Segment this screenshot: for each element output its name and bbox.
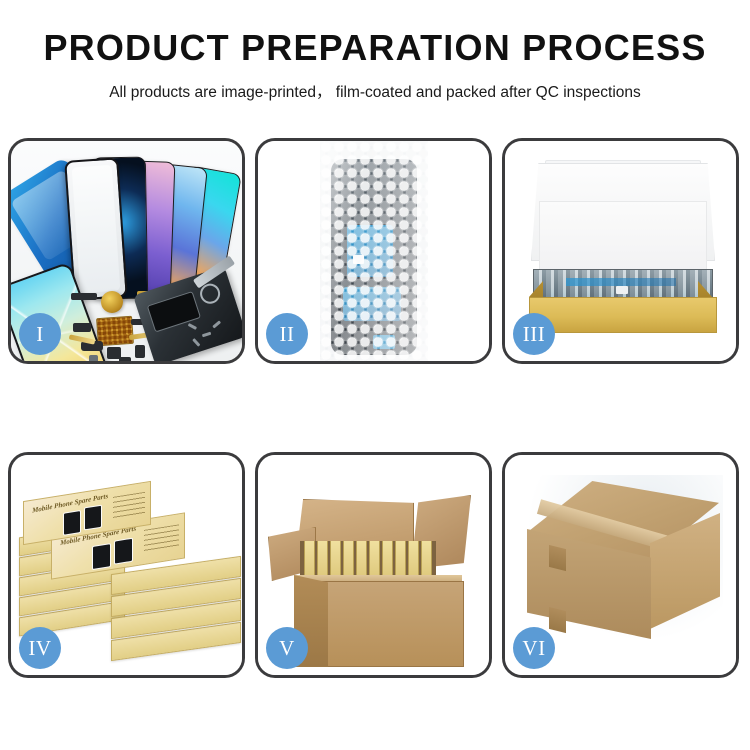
- mailer-front-wall-icon: [529, 297, 717, 333]
- box-print-screen-icon: [114, 537, 133, 564]
- page-subtitle: All products are image-printed， film-coa…: [0, 80, 750, 102]
- step-badge-5: V: [266, 627, 308, 669]
- part-blue-accent-icon: [347, 225, 393, 277]
- step-badge-2: II: [266, 313, 308, 355]
- step-badge-3: III: [513, 313, 555, 355]
- wrapped-part-icon: [331, 159, 417, 355]
- part-label-icon: [353, 255, 364, 264]
- part-blue-accent-icon: [343, 287, 401, 321]
- foam-liner-icon: [539, 201, 707, 273]
- part-blue-accent-icon: [373, 335, 395, 349]
- box-print-screen-icon: [84, 505, 102, 531]
- step-panel-3[interactable]: III: [502, 138, 739, 364]
- carton-tab-icon: [549, 545, 566, 571]
- small-part-icon: [73, 323, 91, 332]
- box-print-checklist-icon: [144, 524, 178, 552]
- product-preparation-infographic: PRODUCT PREPARATION PROCESS All products…: [0, 0, 750, 750]
- small-part-icon: [89, 355, 98, 361]
- gold-coil-part-icon: [101, 291, 123, 313]
- step-panel-2[interactable]: II: [255, 138, 492, 364]
- small-part-icon: [71, 293, 97, 300]
- step-badge-4: IV: [19, 627, 61, 669]
- step-badge-6: VI: [513, 627, 555, 669]
- steps-grid: I II: [8, 138, 742, 678]
- step-panel-1[interactable]: I: [8, 138, 245, 364]
- header: PRODUCT PREPARATION PROCESS All products…: [0, 0, 750, 102]
- small-part-icon: [135, 345, 145, 358]
- carton-tab-icon: [549, 607, 566, 633]
- step-panel-5[interactable]: V: [255, 452, 492, 678]
- small-part-icon: [119, 357, 131, 361]
- step-panel-4[interactable]: Mobile Phone Spare Parts Mobile Phone Sp…: [8, 452, 245, 678]
- box-print-screen-icon: [63, 510, 81, 536]
- box-print-checklist-icon: [113, 492, 145, 519]
- part-label-icon: [616, 286, 628, 294]
- page-title: PRODUCT PREPARATION PROCESS: [0, 30, 750, 66]
- step-panel-6[interactable]: VI: [502, 452, 739, 678]
- step-badge-1: I: [19, 313, 61, 355]
- box-print-screen-icon: [92, 543, 111, 570]
- screws-group-icon: [188, 323, 228, 349]
